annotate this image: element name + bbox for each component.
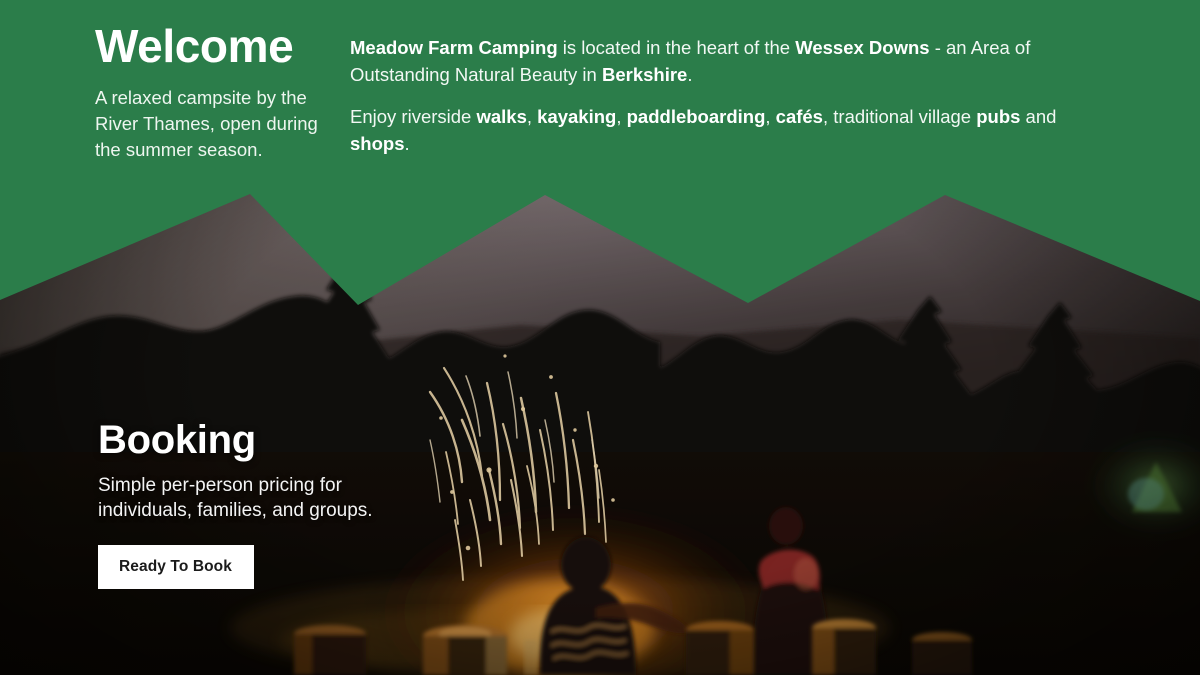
amenity-shops: shops <box>350 133 404 154</box>
intro-paragraph-activities: Enjoy riverside walks, kayaking, paddleb… <box>350 103 1060 157</box>
booking-section: Booking Simple per-person pricing for in… <box>98 418 568 589</box>
hero-section: Welcome A relaxed campsite by the River … <box>0 0 1200 675</box>
p1-part6: . <box>687 64 692 85</box>
amenity-cafes: cafés <box>776 106 823 127</box>
region-name: Wessex Downs <box>795 37 929 58</box>
p2-part5: , <box>616 106 626 127</box>
p2-part11: and <box>1020 106 1056 127</box>
county-name: Berkshire <box>602 64 687 85</box>
booking-heading: Booking <box>98 418 568 462</box>
p2-part7: , <box>765 106 775 127</box>
activity-walks: walks <box>476 106 526 127</box>
amenity-pubs: pubs <box>976 106 1020 127</box>
ready-to-book-button[interactable]: Ready To Book <box>98 545 254 589</box>
booking-subtitle: Simple per-person pricing for individual… <box>98 473 438 524</box>
p2-part9: , traditional village <box>823 106 976 127</box>
activity-kayaking: kayaking <box>537 106 616 127</box>
p2-part1: Enjoy riverside <box>350 106 476 127</box>
p1-part2: is located in the heart of the <box>558 37 796 58</box>
intro-text-region: Welcome A relaxed campsite by the River … <box>0 0 1200 200</box>
brand-name: Meadow Farm Camping <box>350 37 558 58</box>
intro-lede: A relaxed campsite by the River Thames, … <box>95 85 320 164</box>
intro-right-column: Meadow Farm Camping is located in the he… <box>350 0 1200 200</box>
page-title: Welcome <box>95 22 320 71</box>
p2-part3: , <box>527 106 537 127</box>
activity-paddleboarding: paddleboarding <box>627 106 766 127</box>
intro-paragraph-location: Meadow Farm Camping is located in the he… <box>350 34 1060 88</box>
intro-left-column: Welcome A relaxed campsite by the River … <box>0 0 350 200</box>
p2-part13: . <box>404 133 409 154</box>
